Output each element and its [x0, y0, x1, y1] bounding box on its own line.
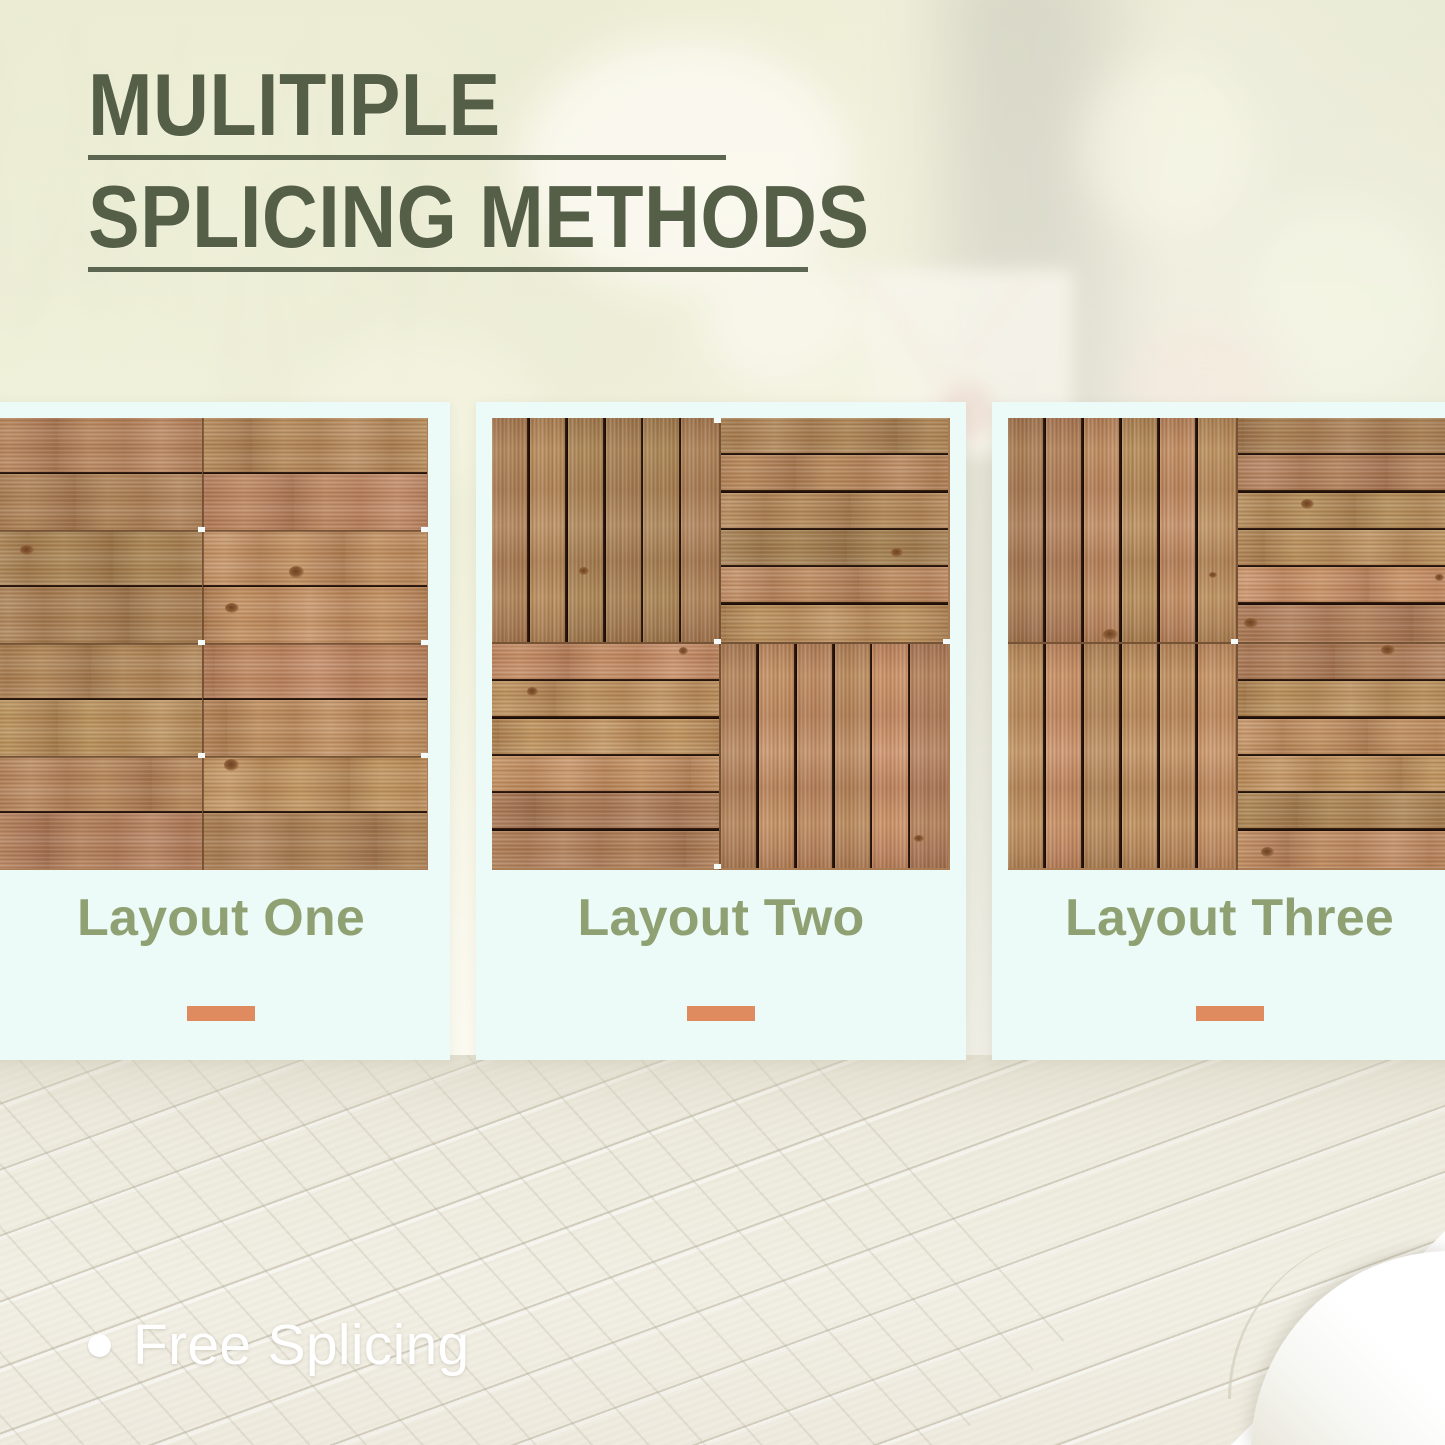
- wood-rib-texture: [721, 418, 948, 455]
- wood-tile-seam: [492, 642, 950, 644]
- layout-one-wood-preview: [0, 418, 428, 870]
- wood-knot: [1381, 645, 1394, 655]
- wood-rib-texture: [0, 474, 202, 530]
- wood-slat: [681, 418, 719, 642]
- wood-rib-texture: [203, 587, 427, 643]
- wood-tile-seam: [0, 530, 428, 532]
- wood-tile-notch: [1231, 639, 1238, 644]
- layout-card-two-accent-bar: [687, 1006, 755, 1021]
- wood-rib-texture: [530, 418, 568, 642]
- wood-rib-texture: [606, 418, 644, 642]
- wood-slat: [721, 455, 948, 492]
- wood-rib-texture: [797, 644, 835, 868]
- wood-knot: [20, 545, 34, 555]
- wood-slat: [1084, 418, 1122, 642]
- wood-slat: [1198, 644, 1236, 868]
- wood-slat: [530, 418, 568, 642]
- wood-rib-texture: [1198, 644, 1236, 868]
- wood-slat: [203, 700, 427, 756]
- wood-slat: [203, 644, 427, 700]
- wood-rib-texture: [1160, 644, 1198, 868]
- poster-canvas: MULITIPLE SPLICING METHODS Layout One La…: [0, 0, 1445, 1445]
- wood-slat: [0, 757, 202, 813]
- wood-slat: [1160, 418, 1198, 642]
- wood-slat: [721, 493, 948, 530]
- wood-slat: [492, 719, 719, 756]
- wood-rib-texture: [1238, 681, 1445, 718]
- layout-card-one[interactable]: Layout One: [0, 402, 450, 1060]
- wood-rib-texture: [1008, 644, 1046, 868]
- wood-rib-texture: [1122, 418, 1160, 642]
- wood-tile: [203, 531, 427, 643]
- wood-tile: [721, 418, 948, 642]
- wood-slat: [721, 567, 948, 604]
- wood-slat: [568, 418, 606, 642]
- wood-rib-texture: [1238, 644, 1445, 681]
- bullet-dot-icon: [88, 1334, 111, 1357]
- layout-two-wood-preview: [492, 418, 950, 870]
- wood-rib-texture: [203, 531, 427, 587]
- wood-rib-texture: [203, 644, 427, 700]
- wood-knot: [224, 759, 239, 770]
- wood-rib-texture: [1238, 530, 1445, 567]
- wood-rib-texture: [721, 567, 948, 604]
- wood-slat: [1238, 793, 1445, 830]
- wood-slat: [1008, 418, 1046, 642]
- wood-slat: [759, 644, 797, 868]
- wood-rib-texture: [835, 644, 873, 868]
- wood-rib-texture: [492, 831, 719, 868]
- wood-rib-texture: [1238, 793, 1445, 830]
- wood-tile-notch: [943, 639, 950, 644]
- wood-slat: [1008, 644, 1046, 868]
- wood-tile: [203, 644, 427, 756]
- wood-slat: [0, 587, 202, 643]
- wood-rib-texture: [721, 530, 948, 567]
- wood-slat: [492, 831, 719, 868]
- wood-slat: [1238, 455, 1445, 492]
- wood-rib-texture: [1238, 455, 1445, 492]
- page-title-underline-2: [88, 267, 808, 272]
- wood-slat: [0, 531, 202, 587]
- wood-tile: [0, 418, 202, 530]
- wood-rib-texture: [1238, 493, 1445, 530]
- wood-rib-texture: [0, 587, 202, 643]
- wood-slat: [203, 757, 427, 813]
- wood-rib-texture: [1238, 567, 1445, 604]
- wood-tile-notch: [714, 639, 721, 644]
- wood-rib-texture: [1238, 418, 1445, 455]
- layout-three-wood-preview: [1008, 418, 1445, 870]
- wood-rib-texture: [0, 700, 202, 756]
- feature-bullet-label: Free Splicing: [133, 1312, 470, 1378]
- wood-rib-texture: [0, 531, 202, 587]
- wood-slat: [1238, 719, 1445, 756]
- wood-rib-texture: [1046, 644, 1084, 868]
- wood-slat: [721, 418, 948, 455]
- wood-tile-notch: [714, 864, 721, 869]
- wood-knot: [527, 687, 539, 696]
- wood-rib-texture: [1084, 418, 1122, 642]
- wood-rib-texture: [643, 418, 681, 642]
- wood-tile-notch: [198, 527, 205, 532]
- wood-tile-seam: [719, 418, 721, 870]
- wood-tile-notch: [421, 753, 428, 758]
- wood-tile: [1008, 644, 1236, 868]
- wood-slat: [0, 644, 202, 700]
- wood-tile-seam: [0, 643, 428, 645]
- page-title: MULITIPLE SPLICING METHODS: [88, 62, 988, 286]
- wood-slat: [835, 644, 873, 868]
- page-title-line-1: MULITIPLE: [88, 62, 880, 148]
- wood-knot: [1244, 618, 1258, 628]
- wood-tile-notch: [421, 640, 428, 645]
- layout-card-two[interactable]: Layout Two: [476, 402, 966, 1060]
- wood-rib-texture: [492, 756, 719, 793]
- wood-slat: [0, 418, 202, 474]
- layout-card-list: Layout One Layout Two Layout Three: [0, 402, 1445, 1062]
- wood-tile-notch: [198, 753, 205, 758]
- layout-card-three-label: Layout Three: [992, 888, 1445, 948]
- page-curl-edge: [1228, 1231, 1399, 1399]
- wood-rib-texture: [1160, 418, 1198, 642]
- page-title-underline-1: [88, 155, 726, 160]
- wood-rib-texture: [0, 757, 202, 813]
- wood-knot: [579, 567, 589, 575]
- wood-slat: [606, 418, 644, 642]
- page-title-line-2: SPLICING METHODS: [88, 174, 880, 260]
- wood-slat: [1238, 831, 1445, 868]
- layout-card-three[interactable]: Layout Three: [992, 402, 1445, 1060]
- wood-tile: [203, 418, 427, 530]
- wood-slat: [1046, 418, 1084, 642]
- wood-slat: [0, 813, 202, 869]
- wood-rib-texture: [1008, 418, 1046, 642]
- wood-slat: [0, 474, 202, 530]
- wood-tile-seam: [0, 756, 428, 758]
- wood-tile: [1238, 418, 1445, 642]
- wood-tile-seam: [1008, 642, 1445, 644]
- wood-slat: [1122, 418, 1160, 642]
- wood-slat: [0, 700, 202, 756]
- wood-rib-texture: [1046, 418, 1084, 642]
- wood-knot: [1261, 847, 1274, 857]
- wood-rib-texture: [721, 644, 759, 868]
- wood-rib-texture: [203, 700, 427, 756]
- wood-tile: [203, 757, 427, 869]
- wood-rib-texture: [492, 719, 719, 756]
- wood-rib-texture: [203, 474, 427, 530]
- feature-bullet-row: Free Splicing: [88, 1312, 470, 1378]
- wood-rib-texture: [872, 644, 910, 868]
- wood-rib-texture: [492, 418, 530, 642]
- wood-slat: [721, 530, 948, 567]
- wood-tile: [492, 418, 719, 642]
- wood-slat: [910, 644, 948, 868]
- wood-rib-texture: [0, 644, 202, 700]
- layout-card-three-accent-bar: [1196, 1006, 1264, 1021]
- wood-rib-texture: [0, 813, 202, 869]
- wood-rib-texture: [1238, 605, 1445, 642]
- wood-tile: [0, 531, 202, 643]
- layout-card-one-accent-bar: [187, 1006, 255, 1021]
- wood-rib-texture: [759, 644, 797, 868]
- wood-slat: [1238, 644, 1445, 681]
- wood-tile-notch: [714, 418, 721, 423]
- wood-slat: [721, 644, 759, 868]
- wood-rib-texture: [1122, 644, 1160, 868]
- wood-rib-texture: [1238, 719, 1445, 756]
- wood-rib-texture: [681, 418, 719, 642]
- wood-knot: [225, 603, 239, 613]
- wood-slat: [797, 644, 835, 868]
- wood-slat: [643, 418, 681, 642]
- wood-tile: [721, 644, 948, 868]
- wood-slat: [492, 681, 719, 718]
- wood-slat: [492, 418, 530, 642]
- wood-rib-texture: [203, 813, 427, 869]
- wood-rib-texture: [721, 493, 948, 530]
- wood-tile: [1008, 418, 1236, 642]
- wood-tile: [0, 757, 202, 869]
- wood-knot: [289, 566, 305, 578]
- wood-slat: [203, 587, 427, 643]
- wood-tile: [492, 644, 719, 868]
- wood-slat: [203, 531, 427, 587]
- wood-slat: [492, 644, 719, 681]
- wood-rib-texture: [203, 418, 427, 474]
- wood-slat: [872, 644, 910, 868]
- wood-rib-texture: [0, 418, 202, 474]
- wood-slat: [1160, 644, 1198, 868]
- wood-rib-texture: [568, 418, 606, 642]
- wood-knot: [1103, 629, 1117, 640]
- wood-tile: [1238, 644, 1445, 868]
- wood-slat: [1238, 530, 1445, 567]
- wood-rib-texture: [492, 793, 719, 830]
- layout-card-one-label: Layout One: [0, 888, 450, 948]
- wood-tile-notch: [198, 640, 205, 645]
- wood-slat: [1238, 418, 1445, 455]
- wood-slat: [1122, 644, 1160, 868]
- wood-slat: [1238, 681, 1445, 718]
- wood-slat: [1238, 567, 1445, 604]
- page-curl-corner: [1195, 1195, 1445, 1445]
- wood-rib-texture: [1198, 418, 1236, 642]
- wood-slat: [1238, 493, 1445, 530]
- wood-slat: [492, 756, 719, 793]
- wood-slat: [492, 793, 719, 830]
- wood-slat: [1238, 605, 1445, 642]
- wood-rib-texture: [1084, 644, 1122, 868]
- wood-slat: [203, 474, 427, 530]
- wood-tile-seam: [1236, 418, 1238, 870]
- wood-rib-texture: [1238, 756, 1445, 793]
- wood-slat: [1238, 756, 1445, 793]
- wood-slat: [1046, 644, 1084, 868]
- wood-slat: [1084, 644, 1122, 868]
- layout-card-two-label: Layout Two: [476, 888, 966, 948]
- wood-slat: [203, 418, 427, 474]
- wood-knot: [679, 647, 689, 654]
- wood-tile-notch: [421, 527, 428, 532]
- wood-slat: [203, 813, 427, 869]
- wood-tile: [0, 644, 202, 756]
- wood-rib-texture: [492, 681, 719, 718]
- wood-slat: [721, 605, 948, 642]
- wood-rib-texture: [721, 605, 948, 642]
- wood-slat: [1198, 418, 1236, 642]
- wood-rib-texture: [721, 455, 948, 492]
